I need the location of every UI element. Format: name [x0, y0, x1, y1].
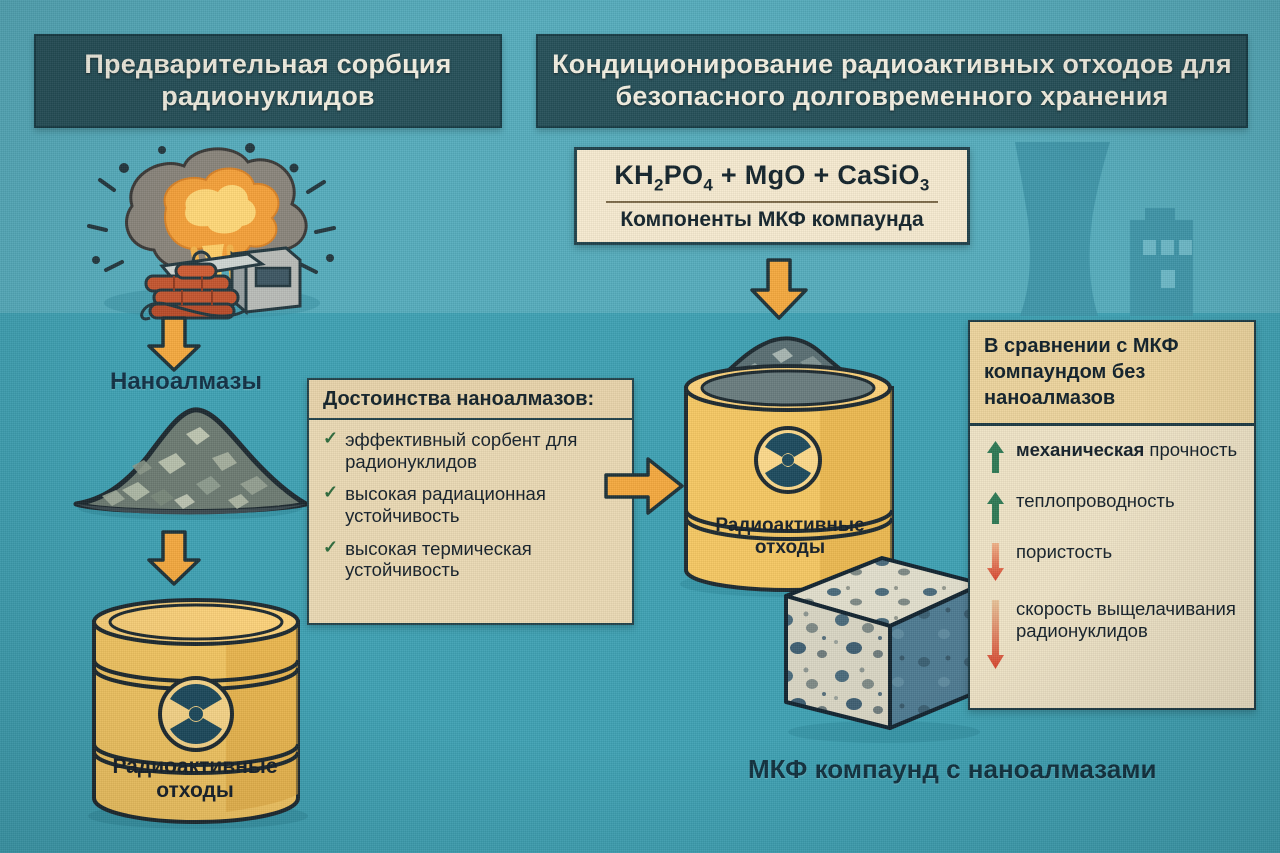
comparison-text-bold: механическая — [1016, 439, 1144, 460]
formula-caption: Компоненты МКФ компаунда — [620, 208, 923, 232]
advantage-text: эффективный сорбент для радионуклидов — [345, 429, 622, 472]
chemical-formula: KH2PO4 + MgO + CaSiO3 — [614, 160, 929, 199]
comparison-text: теплопроводность — [1016, 490, 1175, 512]
arrow-down-red-icon — [986, 599, 1005, 671]
header-left-stage-title: Предварительная сорбция радионуклидов — [34, 34, 502, 128]
check-icon: ✓ — [323, 538, 338, 558]
advantage-text: высокая радиационная устойчивость — [345, 483, 622, 526]
advantages-card: Достоинства наноалмазов: ✓ эффективный с… — [307, 378, 634, 625]
mkf-compound-label: МКФ компаунд с наноалмазами — [748, 754, 1156, 785]
formula-divider — [606, 201, 938, 203]
list-item: ✓ эффективный сорбент для радионуклидов — [323, 429, 622, 472]
comparison-title: В сравнении с МКФ компаундом без наноалм… — [970, 322, 1254, 426]
header-right-stage-title: Кондиционирование радиоактивных отходов … — [536, 34, 1248, 128]
formula-card: KH2PO4 + MgO + CaSiO3 Компоненты МКФ ком… — [574, 147, 970, 245]
radiation-trefoil-icon — [160, 678, 232, 750]
concrete-cube-icon — [774, 552, 994, 744]
header-left-text: Предварительная сорбция радионуклидов — [46, 49, 490, 113]
list-item: механическая прочность — [986, 439, 1244, 474]
formula-sub: 3 — [920, 175, 930, 194]
check-icon: ✓ — [323, 429, 338, 449]
arrow-down-icon — [145, 530, 203, 586]
comparison-list: механическая прочность теплопроводность — [970, 426, 1254, 671]
arrow-down-red-icon — [986, 542, 1005, 582]
comparison-text: пористость — [1016, 541, 1112, 563]
arrow-down-icon — [748, 258, 810, 320]
arrow-up-green-icon — [986, 491, 1005, 525]
advantage-text: высокая термическая устойчивость — [345, 538, 622, 581]
arrow-down-icon — [145, 316, 203, 372]
comparison-card: В сравнении с МКФ компаундом без наноалм… — [968, 320, 1256, 710]
formula-sub: 4 — [703, 175, 713, 194]
list-item: ✓ высокая термическая устойчивость — [323, 538, 622, 581]
advantages-list: ✓ эффективный сорбент для радионуклидов … — [309, 420, 632, 581]
list-item: скорость выщелачивания радионуклидов — [986, 598, 1244, 671]
comparison-text: механическая прочность — [1016, 439, 1237, 461]
formula-part: KH — [614, 160, 654, 190]
comparison-text-rest: прочность — [1149, 439, 1237, 460]
barrel-left-label: Радиоактивные отходы — [86, 755, 304, 804]
header-right-text: Кондиционирование радиоактивных отходов … — [548, 49, 1236, 113]
nanodiamond-pile-icon — [62, 400, 314, 522]
check-icon: ✓ — [323, 483, 338, 503]
cooling-tower-icon — [960, 120, 1280, 320]
list-item: ✓ высокая радиационная устойчивость — [323, 483, 622, 526]
comparison-text: скорость выщелачивания радионуклидов — [1016, 598, 1244, 642]
infographic-root: Предварительная сорбция радионуклидов Ко… — [0, 0, 1280, 853]
arrow-up-green-icon — [986, 440, 1005, 474]
list-item: пористость — [986, 541, 1244, 582]
nanodiamonds-label: Наноалмазы — [110, 368, 262, 396]
formula-part: PO — [664, 160, 704, 190]
radiation-trefoil-icon — [756, 428, 820, 492]
dynamite-icon — [128, 232, 308, 324]
formula-part: + MgO + CaSiO — [713, 160, 920, 190]
formula-sub: 2 — [654, 175, 664, 194]
advantages-title: Достоинства наноалмазов: — [309, 380, 632, 420]
list-item: теплопроводность — [986, 490, 1244, 525]
